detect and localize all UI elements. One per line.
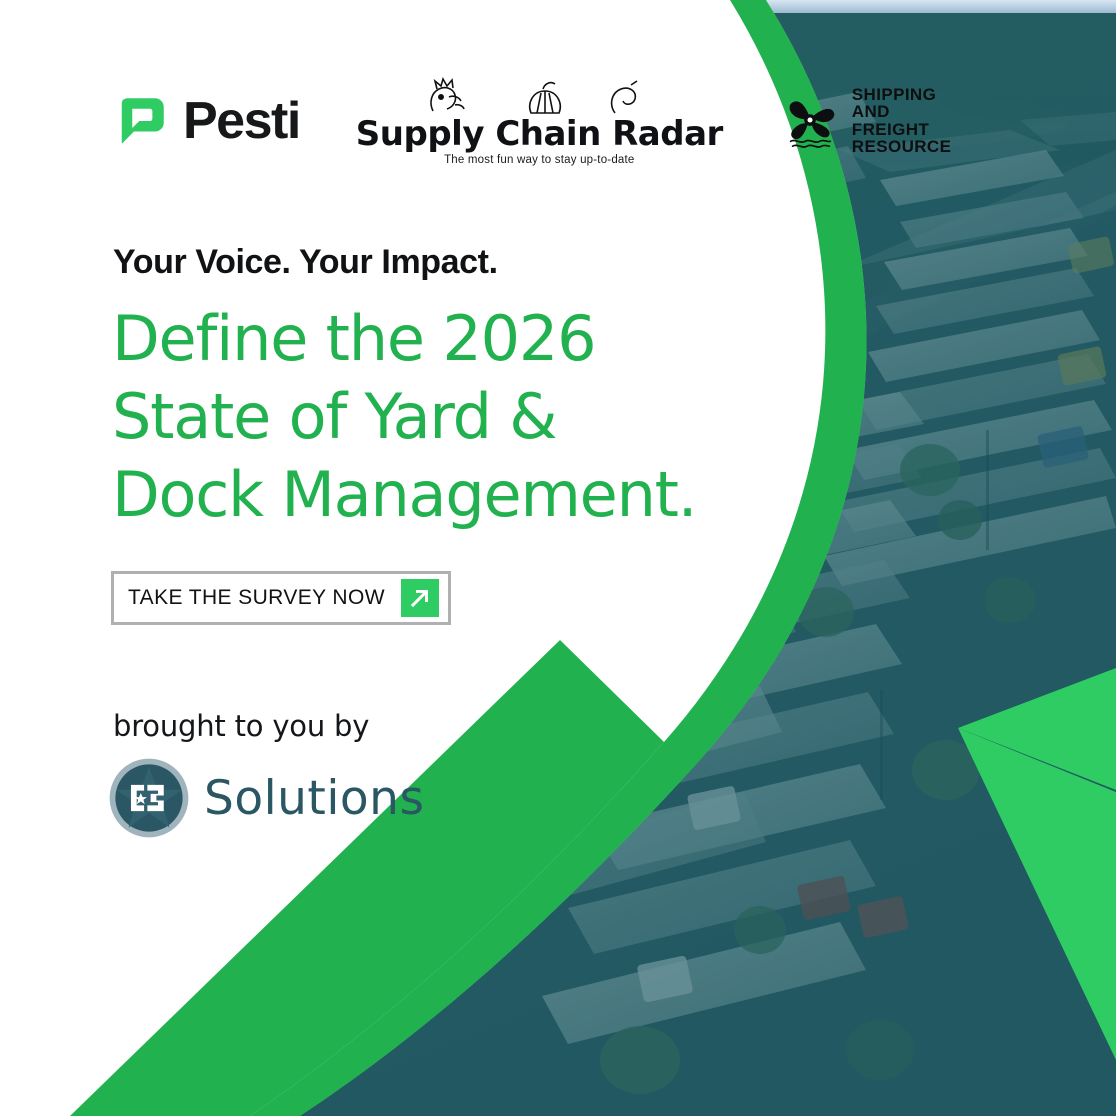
headline: Define the 2026 State of Yard & Dock Man…: [112, 300, 696, 534]
scr-doodle-icons: [419, 75, 659, 117]
headline-line-2: State of Yard &: [112, 378, 696, 456]
headline-line-3: Dock Management.: [112, 456, 696, 534]
kicker-text: Your Voice. Your Impact.: [113, 243, 498, 282]
scr-wordmark: Supply Chain Radar: [356, 117, 723, 151]
sfr-line-3: FREIGHT: [852, 121, 952, 138]
sfr-line-1: SHIPPING: [852, 86, 952, 103]
headline-line-1: Define the 2026: [112, 300, 696, 378]
sfr-line-2: AND: [852, 103, 952, 120]
content-layer: Pesti: [0, 0, 1116, 1116]
take-survey-button[interactable]: TAKE THE SURVEY NOW: [111, 571, 451, 625]
chat-bubble-p-icon: [113, 93, 169, 149]
sfr-wordmark: SHIPPING AND FREIGHT RESOURCE: [852, 86, 952, 155]
partner-logos-row: Pesti: [113, 75, 951, 166]
cta-label: TAKE THE SURVEY NOW: [128, 586, 385, 610]
pesti-wordmark: Pesti: [183, 95, 300, 147]
logo-c3-solutions[interactable]: Solutions: [108, 757, 424, 839]
promo-poster: Pesti: [0, 0, 1116, 1116]
scr-tagline: The most fun way to stay up-to-date: [444, 154, 634, 166]
brought-by-label: brought to you by: [113, 709, 369, 743]
logo-pesti[interactable]: Pesti: [113, 93, 300, 149]
logo-supply-chain-radar[interactable]: Supply Chain Radar The most fun way to s…: [356, 75, 723, 166]
c3-solutions-wordmark: Solutions: [204, 775, 424, 822]
c3-star-badge-icon: [108, 757, 190, 839]
arrow-up-right-icon: [401, 579, 439, 617]
sfr-line-4: RESOURCE: [852, 138, 952, 155]
logo-shipping-and-freight-resource[interactable]: SHIPPING AND FREIGHT RESOURCE: [779, 86, 952, 155]
ship-propeller-icon: [779, 90, 841, 152]
